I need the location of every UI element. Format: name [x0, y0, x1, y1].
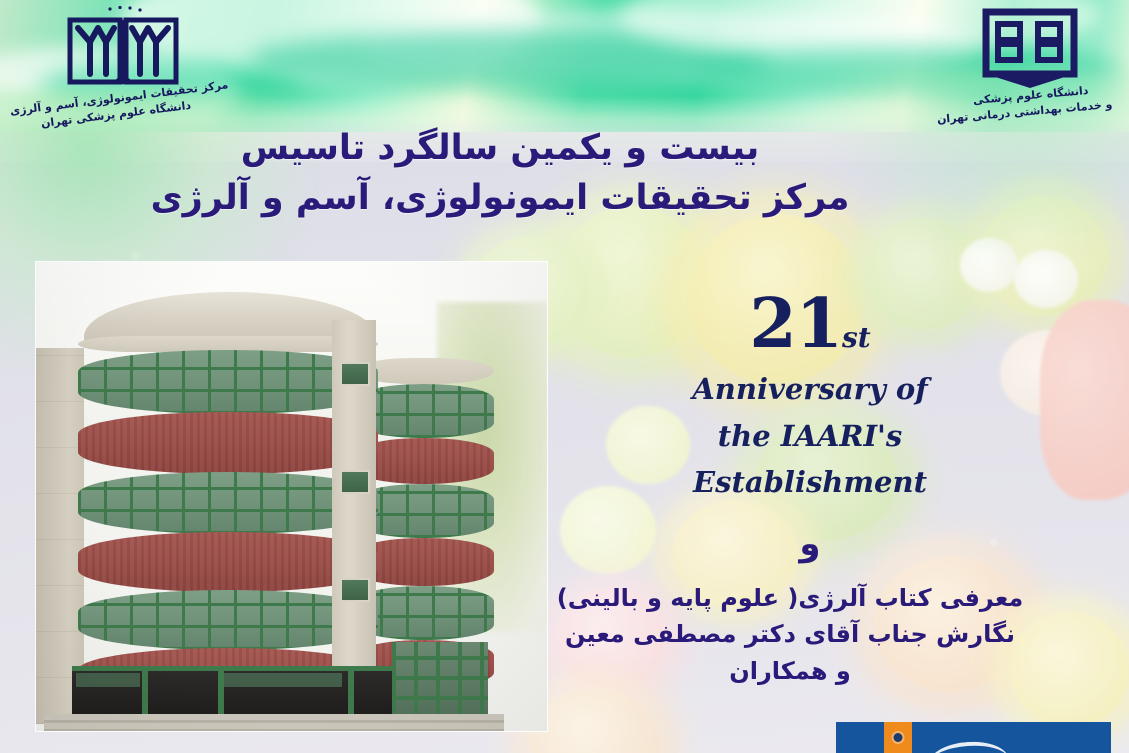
pollen-grain-icon — [530, 688, 660, 753]
building-wing-entrance — [392, 642, 488, 720]
building-photo-inner — [36, 262, 547, 731]
anniversary-suffix: st — [842, 321, 871, 354]
book-announcement-line-2: نگارش جناب آقای دکتر مصطفی معین — [540, 616, 1040, 652]
book-announcement-line-1: معرفی کتاب آلرژی( علوم پایه و بالینی) — [540, 580, 1040, 616]
building-photo — [36, 262, 547, 731]
english-line-1: Anniversary of — [600, 367, 1020, 412]
book-announcement-line-3: و همکاران — [540, 653, 1040, 689]
anniversary-ordinal: 21st — [600, 292, 1020, 357]
headline-line-2: مرکز تحقیقات ایمونولوژی، آسم و آلرژی — [60, 175, 940, 221]
building-stone-pier — [332, 320, 376, 720]
headline-line-1: بیست و یکمین سالگرد تاسیس — [60, 125, 940, 171]
tums-logo: دانشگاه علوم پزشکی و خدمات بهداشتی درمان… — [930, 8, 1129, 120]
poster-canvas: مرکز تحقیقات ایمونولوژی، آسم و آلرژی دان… — [0, 0, 1129, 753]
banner-swoosh-icon — [927, 739, 1008, 753]
open-book-icon — [64, 4, 182, 90]
anniversary-number: 21 — [749, 284, 842, 364]
poster-headline: بیست و یکمین سالگرد تاسیس مرکز تحقیقات ا… — [60, 125, 940, 221]
english-line-2: the IAARI's — [600, 414, 1020, 459]
separator-vav: و — [600, 524, 1020, 564]
sponsor-banner — [836, 722, 1111, 753]
banner-orange-tab — [884, 722, 912, 753]
banner-logo-dot-icon — [894, 733, 903, 742]
english-line-3: Establishment — [600, 460, 1020, 505]
english-anniversary-block: 21st Anniversary of the IAARI's Establis… — [600, 292, 1020, 505]
book-announcement-block: معرفی کتاب آلرژی( علوم پایه و بالینی) نگ… — [540, 580, 1040, 689]
building-steps — [44, 714, 504, 731]
iaari-logo: مرکز تحقیقات ایمونولوژی، آسم و آلرژی دان… — [18, 4, 228, 122]
pollen-grain-icon — [1040, 300, 1129, 500]
tums-book-emblem-icon — [982, 8, 1078, 88]
